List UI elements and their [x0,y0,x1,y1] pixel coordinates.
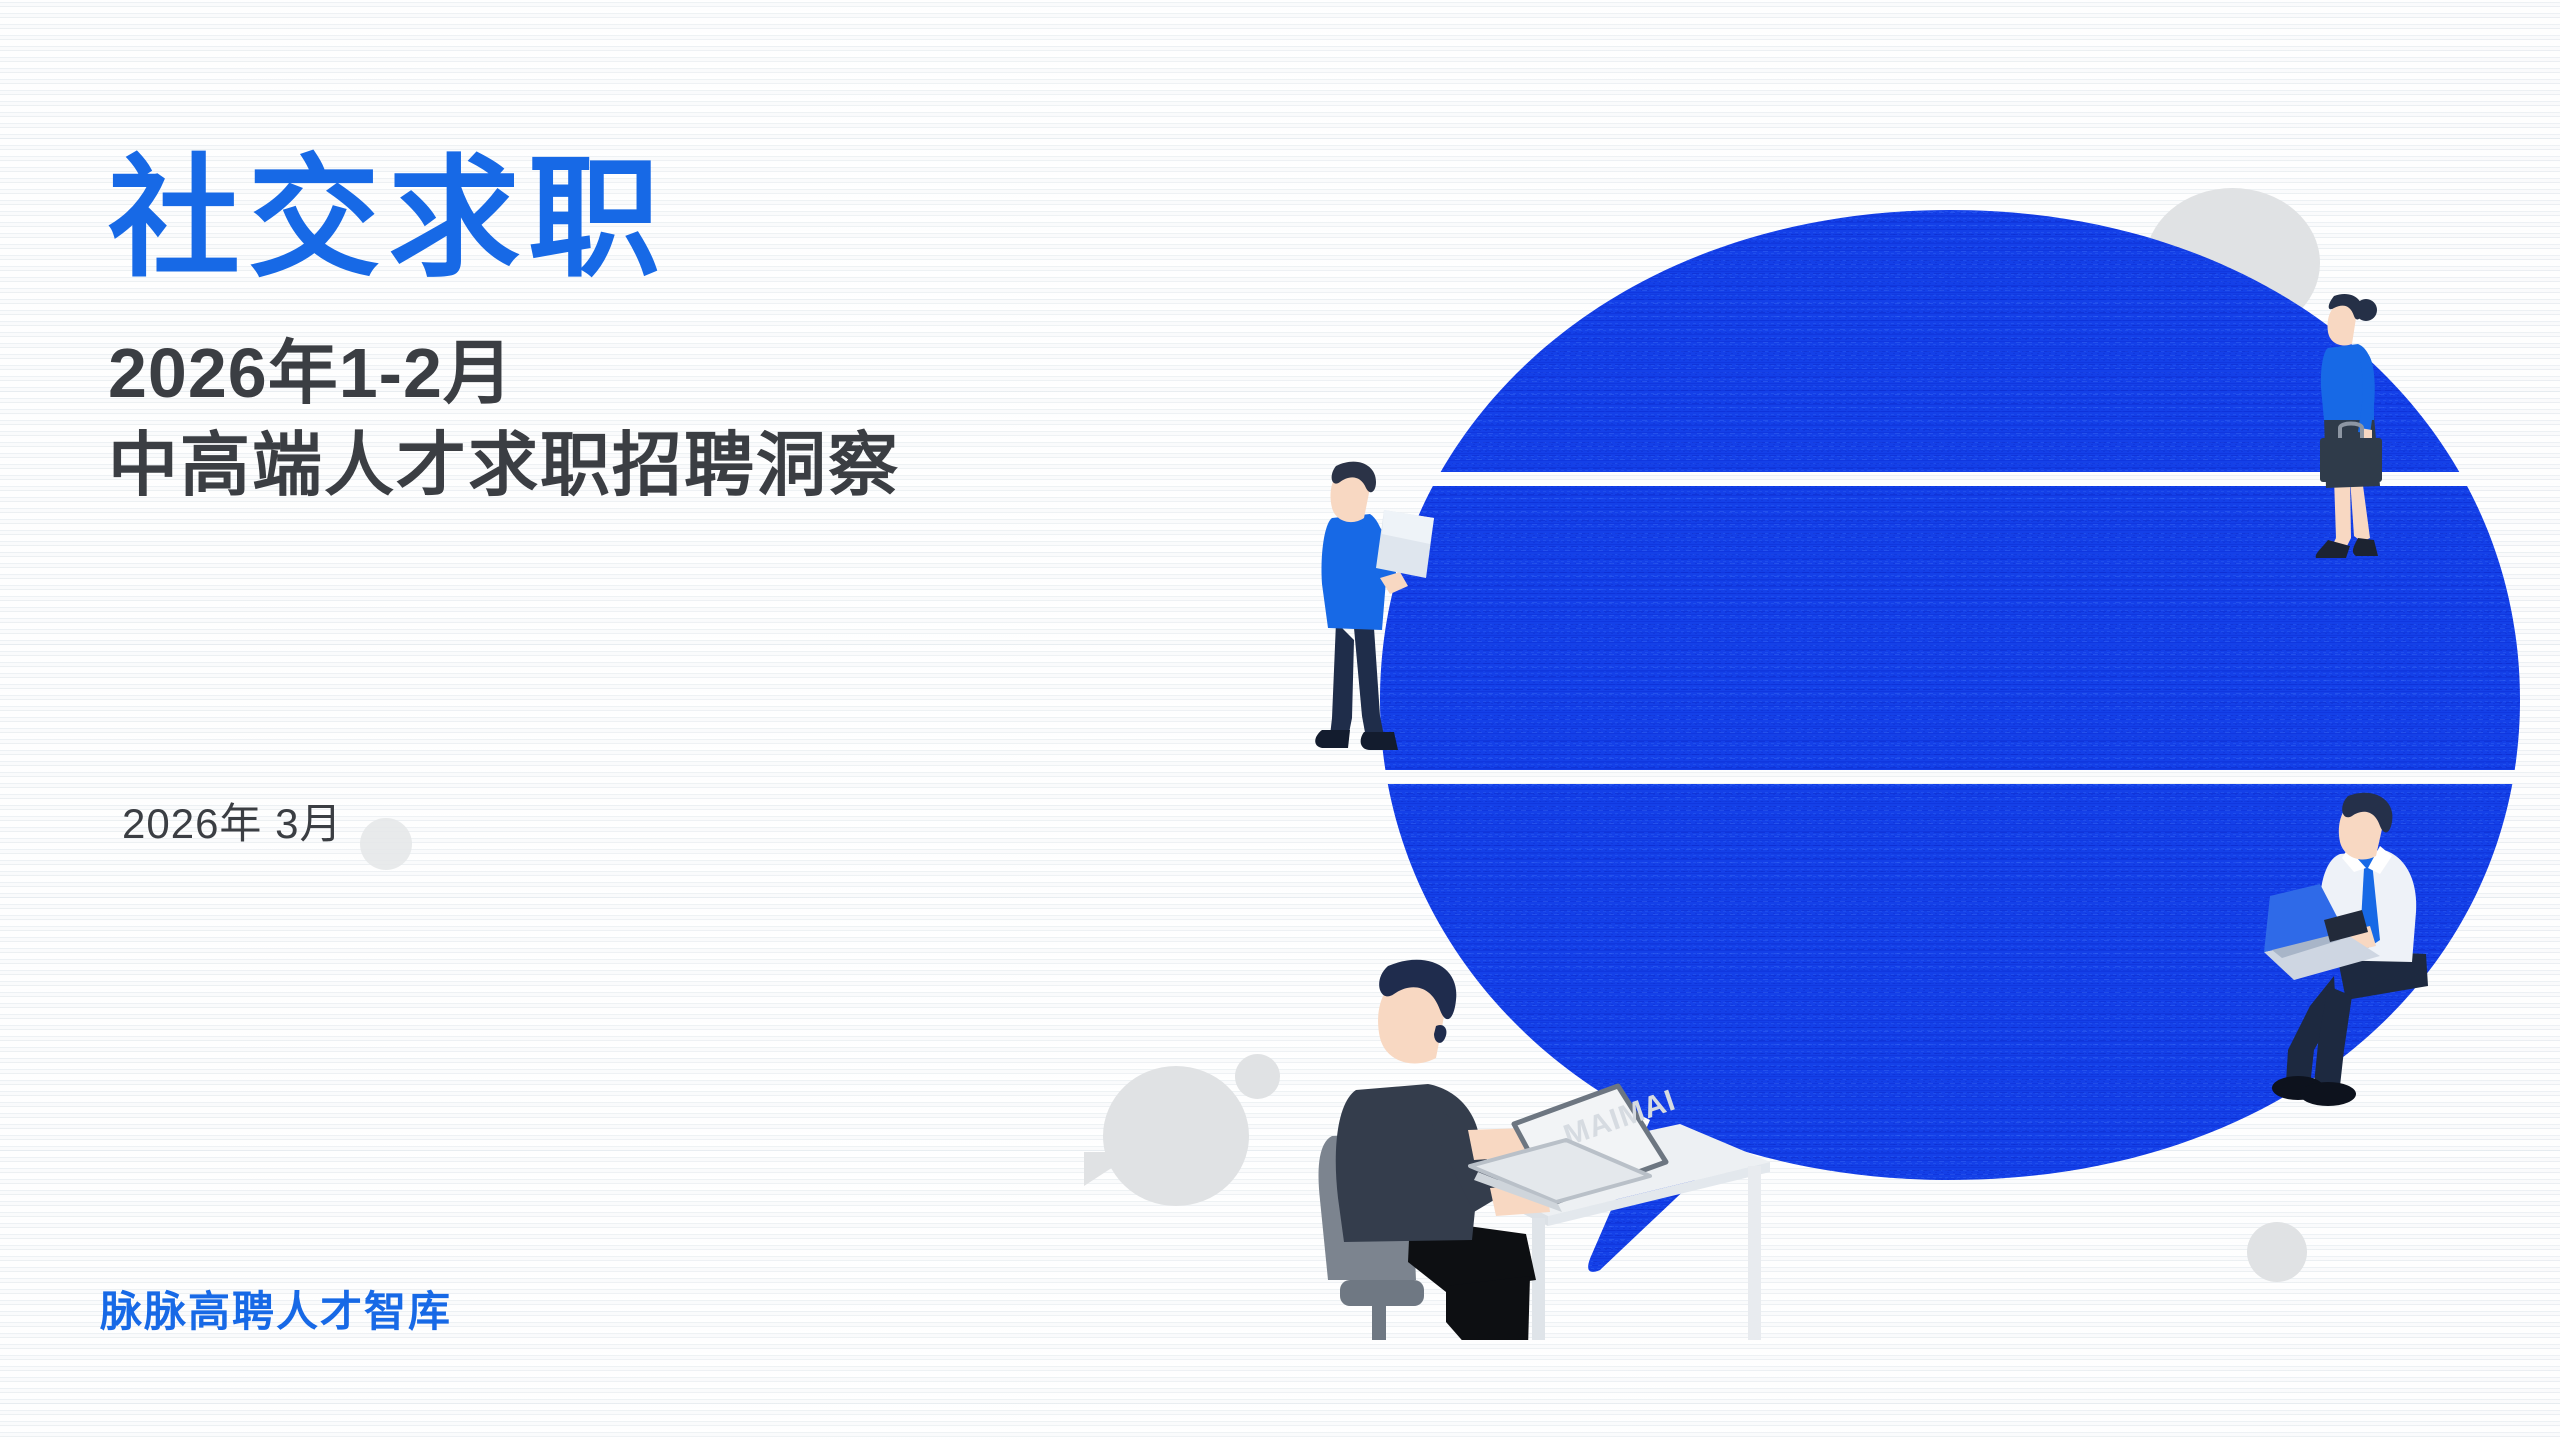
title-block: 社交求职 2026年1-2月 中高端人才求职招聘洞察 [108,150,1288,511]
subtitle-line-2: 中高端人才求职招聘洞察 [108,419,1288,511]
slide-root: 社交求职 2026年1-2月 中高端人才求职招聘洞察 2026年 3月 脉脉高聘… [0,0,2560,1440]
brand-label: 脉脉高聘人才智库 [100,1278,452,1339]
hero-illustration: MAIMAI [1230,180,2560,1340]
subtitle-line-1: 2026年1-2月 [108,327,1288,419]
speech-bubble-illustration-icon: MAIMAI [1230,180,2560,1340]
page-title: 社交求职 [108,150,1288,289]
gray-speech-bubble-bottom-left-tail-icon [1084,1152,1136,1186]
gray-circle-behind-date-icon [360,818,412,870]
publish-date: 2026年 3月 [122,790,342,851]
